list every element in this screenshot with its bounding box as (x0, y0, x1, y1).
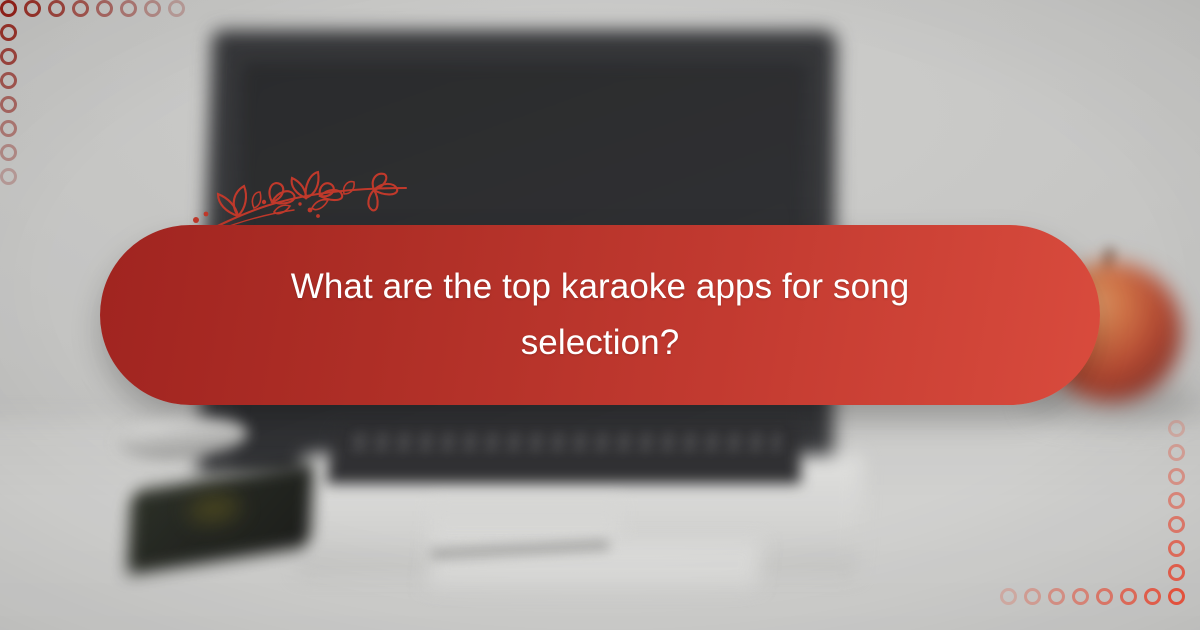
headline-pill: What are the top karaoke apps for song s… (100, 225, 1100, 405)
headline-text: What are the top karaoke apps for song s… (250, 259, 950, 371)
social-card-canvas: What are the top karaoke apps for song s… (0, 0, 1200, 630)
